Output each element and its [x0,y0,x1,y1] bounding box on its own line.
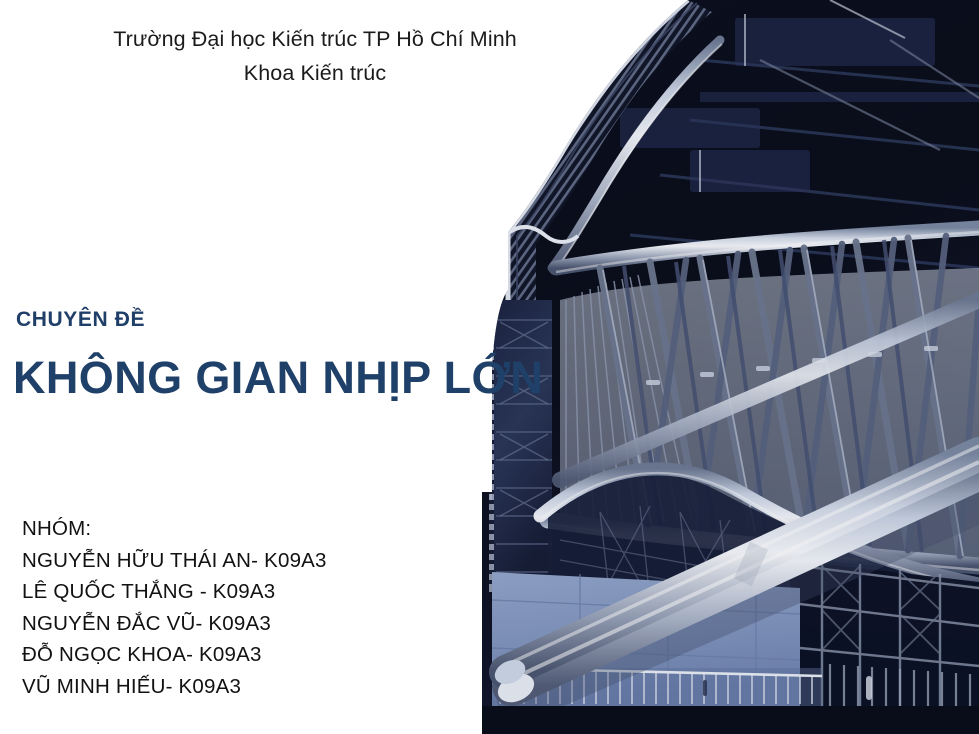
group-members-block: NHÓM: NGUYỄN HỮU THÁI AN- K09A3 LÊ QUỐC … [22,513,327,702]
list-item: VŨ MINH HIẾU- K09A3 [22,671,327,703]
institution-header: Trường Đại học Kiến trúc TP Hồ Chí Minh … [0,22,630,90]
university-name: Trường Đại học Kiến trúc TP Hồ Chí Minh [0,22,630,56]
list-item: ĐỖ NGỌC KHOA- K09A3 [22,639,327,671]
list-item: NGUYỄN HỮU THÁI AN- K09A3 [22,545,327,577]
list-item: LÊ QUỐC THẮNG - K09A3 [22,576,327,608]
page-title: KHÔNG GIAN NHỊP LỚN [13,352,543,404]
group-heading: NHÓM: [22,513,327,545]
faculty-name: Khoa Kiến trúc [0,56,630,90]
list-item: NGUYỄN ĐẮC VŨ- K09A3 [22,608,327,640]
presentation-slide: Trường Đại học Kiến trúc TP Hồ Chí Minh … [0,0,979,734]
subject-label: CHUYÊN ĐỀ [16,308,145,332]
